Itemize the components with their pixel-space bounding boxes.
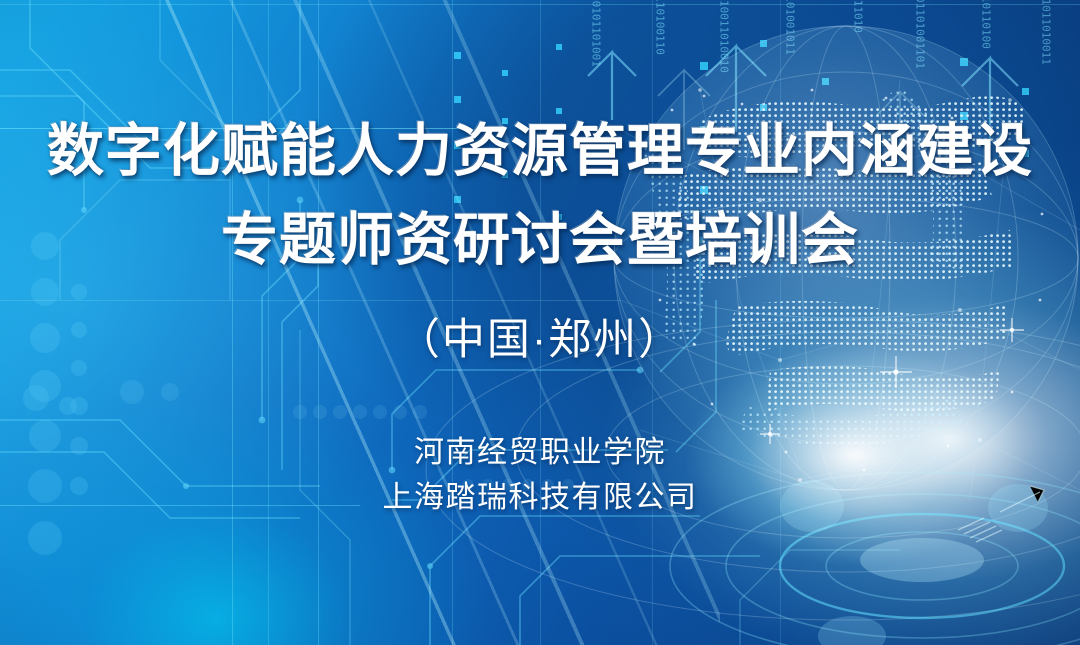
banner-location-subtitle: （中国·郑州） [397, 319, 683, 362]
organizer-list: 河南经贸职业学院 上海踏瑞科技有限公司 [383, 438, 698, 513]
organizer-1: 河南经贸职业学院 [414, 438, 666, 468]
banner-title-line-1: 数字化赋能人力资源管理专业内涵建设 [47, 123, 1033, 180]
organizer-2: 上海踏瑞科技有限公司 [383, 483, 698, 513]
banner-title-line-2: 专题师资研讨会暨培训会 [221, 212, 859, 269]
banner-content: 数字化赋能人力资源管理专业内涵建设 专题师资研讨会暨培训会 （中国·郑州） 河南… [0, 0, 1080, 645]
conference-banner: 1010110100101101001 01101001101001101001… [0, 0, 1080, 645]
